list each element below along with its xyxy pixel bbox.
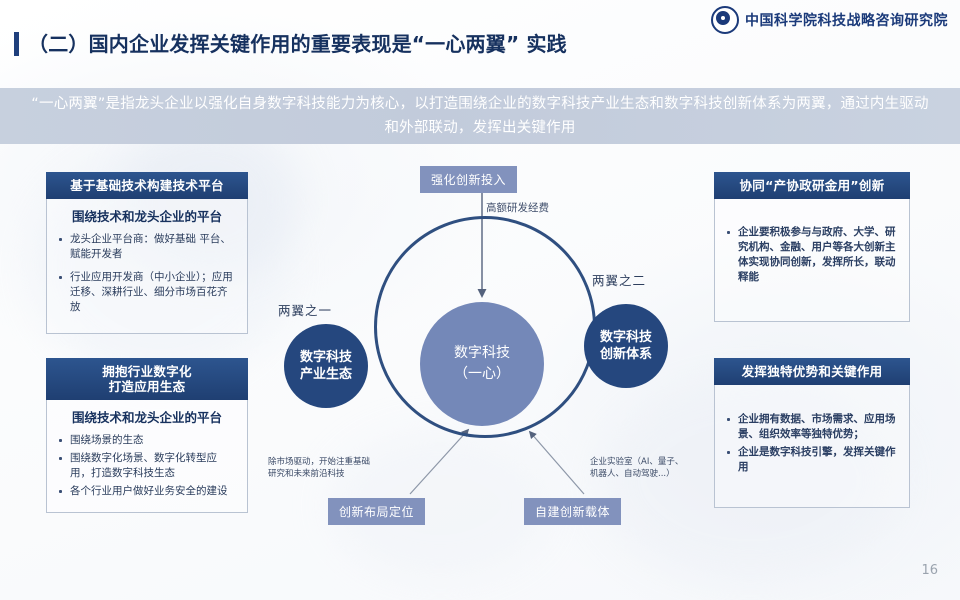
panel-bottom-left-header-line2: 打造应用生态 [54, 379, 240, 394]
arrow-bottom-left [410, 430, 468, 494]
note-bottom-right-line2: 机器人、自动驾驶...） [590, 468, 683, 480]
panel-top-right-body: 企业要积极参与与政府、大学、研究机构、金融、用户等各大创新主体实现协同创新，发挥… [714, 199, 910, 322]
panel-top-left-subtitle: 围绕技术和龙头企业的平台 [57, 209, 237, 225]
panel-top-right-header: 协同“产协政研金用”创新 [714, 172, 910, 199]
chip-strengthen-innovation-investment: 强化创新投入 [420, 166, 517, 193]
center-diagram: 数字科技 （一心） 数字科技 产业生态 数字科技 创新体系 两翼之一 两翼之二 … [262, 160, 702, 550]
list-item: 围绕数字化场景、数字化转型应用，打造数字科技生态 [57, 451, 237, 481]
note-bottom-right: 企业实验室（AI、量子、 机器人、自动驾驶...） [590, 456, 683, 480]
note-bottom-left-line1: 除市场驱动，开始注重基础 [268, 456, 370, 468]
core-circle: 数字科技 （一心） [420, 302, 544, 426]
subtitle-band: “一心两翼”是指龙头企业以强化自身数字科技能力为核心，以打造围绕企业的数字科技产… [0, 88, 960, 144]
panel-top-left: 基于基础技术构建技术平台 围绕技术和龙头企业的平台 龙头企业平台商：做好基础 平… [46, 172, 248, 334]
list-item: 企业拥有数据、市场需求、应用场景、组织效率等独特优势； [725, 412, 899, 442]
arrow-bottom-right [530, 432, 584, 494]
panel-bottom-right-body: 企业拥有数据、市场需求、应用场景、组织效率等独特优势； 企业是数字科技引擎，发挥… [714, 385, 910, 508]
panel-bottom-left: 拥抱行业数字化 打造应用生态 围绕技术和龙头企业的平台 围绕场景的生态 围绕数字… [46, 358, 248, 513]
list-item: 行业应用开发商（中小企业）；应用迁移、深耕行业、细分市场百花齐放 [57, 270, 237, 315]
panel-bottom-left-header-line1: 拥抱行业数字化 [54, 364, 240, 379]
chip-self-built-innovation-carrier: 自建创新载体 [524, 498, 621, 525]
wing-left-line2: 产业生态 [300, 366, 352, 383]
list-item: 围绕场景的生态 [57, 433, 237, 448]
wing-left-circle: 数字科技 产业生态 [284, 324, 368, 408]
panel-top-left-bullets: 龙头企业平台商：做好基础 平台、赋能开发者 行业应用开发商（中小企业）；应用迁移… [57, 232, 237, 315]
wing-right-tag: 两翼之二 [592, 270, 646, 289]
page-title: （二）国内企业发挥关键作用的重要表现是“一心两翼” 实践 [28, 28, 567, 57]
core-label-line2: （一心） [454, 364, 510, 385]
subtitle-text: “一心两翼”是指龙头企业以强化自身数字科技能力为核心，以打造围绕企业的数字科技产… [27, 92, 933, 140]
panel-bottom-left-body: 围绕技术和龙头企业的平台 围绕场景的生态 围绕数字化场景、数字化转型应用，打造数… [46, 400, 248, 513]
page-number: 16 [921, 563, 938, 578]
core-label-line1: 数字科技 [454, 343, 510, 364]
panel-top-right-bullets: 企业要积极参与与政府、大学、研究机构、金融、用户等各大创新主体实现协同创新，发挥… [725, 225, 899, 293]
panel-top-left-body: 围绕技术和龙头企业的平台 龙头企业平台商：做好基础 平台、赋能开发者 行业应用开… [46, 199, 248, 334]
panel-bottom-left-subtitle: 围绕技术和龙头企业的平台 [57, 410, 237, 426]
note-bottom-left-line2: 研究和未来前沿科技 [268, 468, 370, 480]
title-row: （二）国内企业发挥关键作用的重要表现是“一心两翼” 实践 [0, 26, 960, 66]
note-bottom-right-line1: 企业实验室（AI、量子、 [590, 456, 683, 468]
list-item: 各个行业用户做好业务安全的建设 [57, 484, 237, 499]
chip-innovation-layout-positioning: 创新布局定位 [328, 498, 425, 525]
panel-bottom-right-bullets: 企业拥有数据、市场需求、应用场景、组织效率等独特优势； 企业是数字科技引擎，发挥… [725, 412, 899, 478]
title-accent-bar [14, 32, 19, 56]
note-bottom-left: 除市场驱动，开始注重基础 研究和未来前沿科技 [268, 456, 370, 480]
panel-top-left-header: 基于基础技术构建技术平台 [46, 172, 248, 199]
wing-left-tag: 两翼之一 [278, 300, 332, 319]
wing-right-circle: 数字科技 创新体系 [584, 304, 668, 388]
list-item: 企业是数字科技引擎，发挥关键作用 [725, 445, 899, 475]
wing-left-line1: 数字科技 [300, 349, 352, 366]
panel-bottom-left-header: 拥抱行业数字化 打造应用生态 [46, 358, 248, 400]
panel-bottom-right-header: 发挥独特优势和关键作用 [714, 358, 910, 385]
wing-right-line1: 数字科技 [600, 329, 652, 346]
panel-bottom-right: 发挥独特优势和关键作用 企业拥有数据、市场需求、应用场景、组织效率等独特优势； … [714, 358, 910, 508]
list-item: 龙头企业平台商：做好基础 平台、赋能开发者 [57, 232, 237, 262]
panel-top-right: 协同“产协政研金用”创新 企业要积极参与与政府、大学、研究机构、金融、用户等各大… [714, 172, 910, 322]
slide-canvas: 中国科学院科技战略咨询研究院 （二）国内企业发挥关键作用的重要表现是“一心两翼”… [0, 0, 960, 600]
wing-right-line2: 创新体系 [600, 346, 652, 363]
panel-bottom-left-bullets: 围绕场景的生态 围绕数字化场景、数字化转型应用，打造数字科技生态 各个行业用户做… [57, 433, 237, 499]
note-rd-funding: 高额研发经费 [486, 202, 549, 214]
list-item: 企业要积极参与与政府、大学、研究机构、金融、用户等各大创新主体实现协同创新，发挥… [725, 225, 899, 285]
